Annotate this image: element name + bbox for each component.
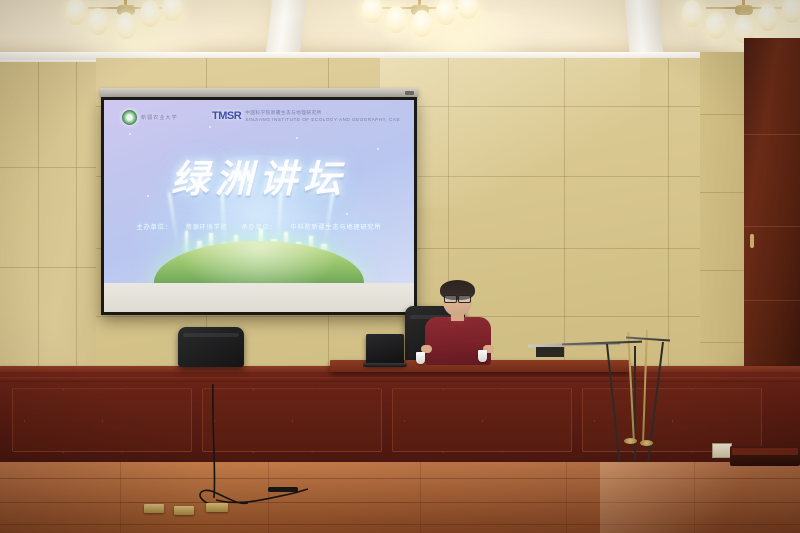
floor-outlet-left xyxy=(144,504,164,513)
floor-outlet-right xyxy=(206,503,228,512)
cable-runs xyxy=(0,0,800,533)
floor-outlet-center xyxy=(174,506,194,515)
equipment-case[interactable] xyxy=(730,446,800,466)
cable-connector xyxy=(268,487,298,492)
lecture-hall-photo: 新疆农业大学 TMSR 中国科学院新疆生态与地理研究所 XINJIANG INS… xyxy=(0,0,800,533)
wall-outlet-plate[interactable] xyxy=(712,443,732,458)
